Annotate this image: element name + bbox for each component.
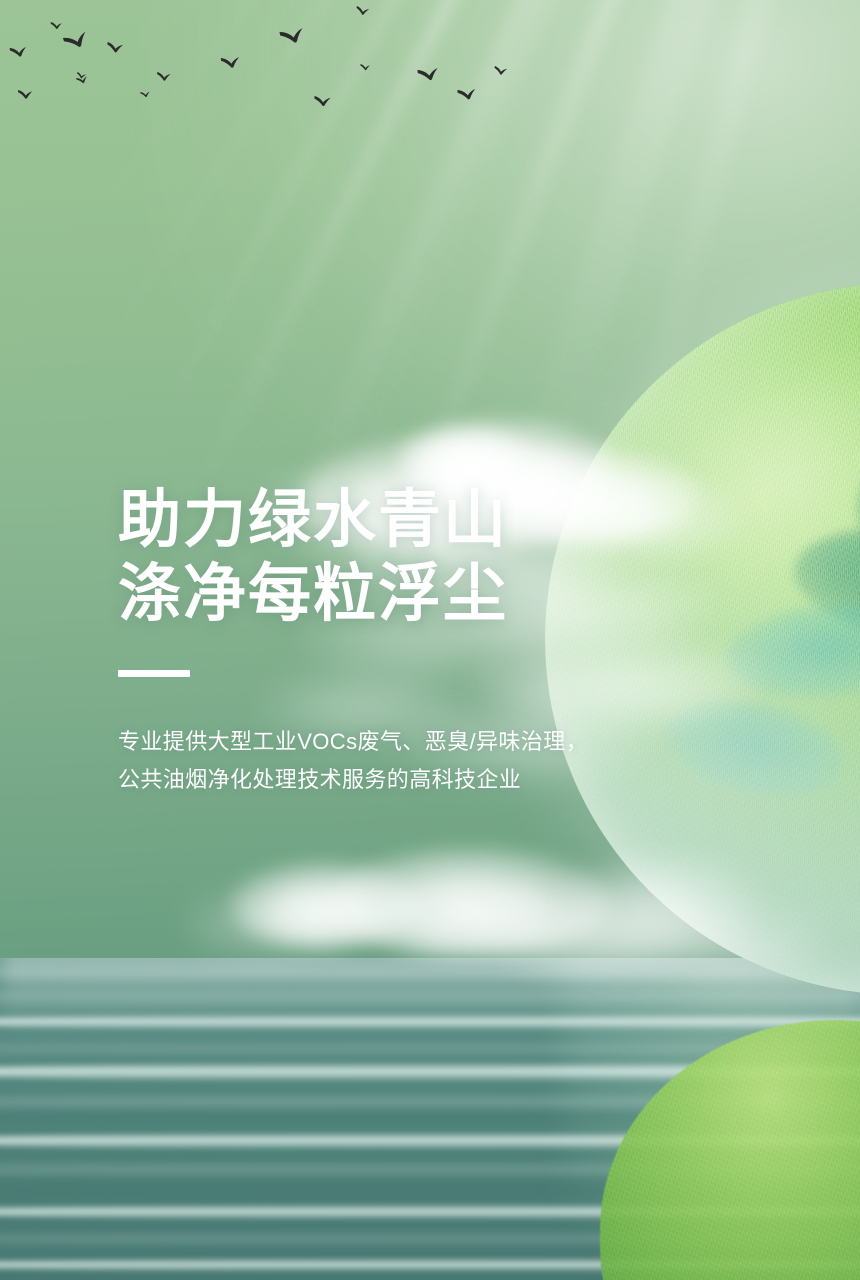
page-title: 助力绿水青山 涤净每粒浮尘: [118, 486, 678, 628]
subtitle-line-2: 公共油烟净化处理技术服务的高科技企业: [118, 761, 678, 799]
subtitle: 专业提供大型工业VOCs废气、恶臭/异味治理， 公共油烟净化处理技术服务的高科技…: [118, 723, 678, 799]
headline-line-1: 助力绿水青山: [118, 485, 508, 555]
subtitle-line-1: 专业提供大型工业VOCs废气、恶臭/异味治理，: [118, 723, 678, 761]
mound-grass-texture: [600, 1020, 860, 1280]
headline-line-2: 涤净每粒浮尘: [118, 560, 678, 628]
title-divider: [118, 670, 190, 677]
copy-block: 助力绿水青山 涤净每粒浮尘 专业提供大型工业VOCs废气、恶臭/异味治理， 公共…: [118, 486, 678, 799]
grass-mound: [600, 1020, 860, 1280]
eco-hero-poster: 助力绿水青山 涤净每粒浮尘 专业提供大型工业VOCs废气、恶臭/异味治理， 公共…: [0, 0, 860, 1280]
